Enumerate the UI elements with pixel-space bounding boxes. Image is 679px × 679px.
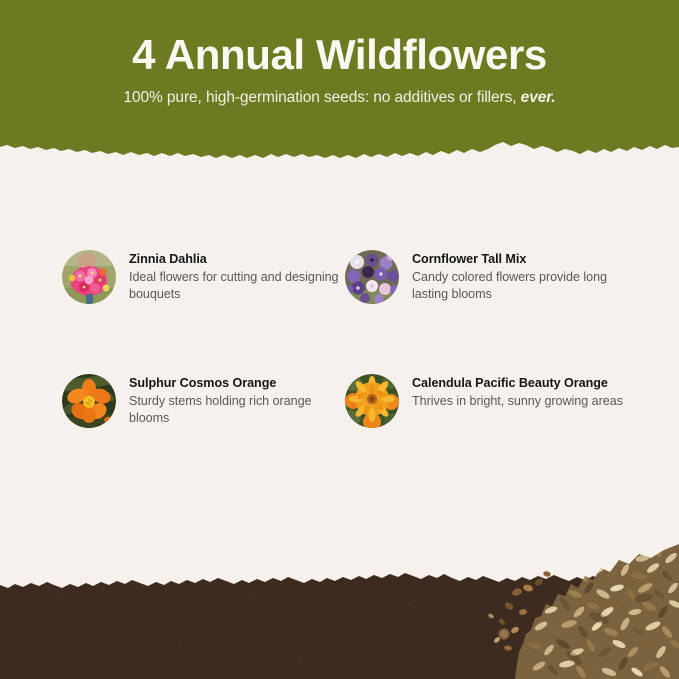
page-subtitle: 100% pure, high-germination seeds: no ad… bbox=[0, 77, 679, 107]
feature-text-group: Calendula Pacific Beauty Orange Thrives … bbox=[412, 362, 624, 410]
feature-text-group: Zinnia Dahlia Ideal flowers for cutting … bbox=[129, 238, 341, 304]
feature-description: Candy colored flowers provide long lasti… bbox=[412, 269, 624, 304]
feature-title: Sulphur Cosmos Orange bbox=[129, 375, 341, 392]
feature-text-group: Cornflower Tall Mix Candy colored flower… bbox=[412, 238, 624, 304]
header-banner: 4 Annual Wildflowers 100% pure, high-ger… bbox=[0, 0, 679, 160]
feature-title: Cornflower Tall Mix bbox=[412, 251, 624, 268]
feature-row: Sulphur Cosmos Orange Sturdy stems holdi… bbox=[0, 362, 679, 428]
flower-thumbnail-sulphur-cosmos-orange bbox=[62, 374, 116, 428]
subtitle-main-text: 100% pure, high-germination seeds: no ad… bbox=[123, 89, 516, 106]
feature-grid: Zinnia Dahlia Ideal flowers for cutting … bbox=[0, 238, 679, 428]
flower-thumbnail-calendula-pacific-beauty-orange bbox=[345, 374, 399, 428]
page-title: 4 Annual Wildflowers bbox=[0, 0, 679, 77]
feature-description: Ideal flowers for cutting and designing … bbox=[129, 269, 341, 304]
feature-item-cornflower-tall-mix[interactable]: Cornflower Tall Mix Candy colored flower… bbox=[345, 238, 628, 304]
feature-row: Zinnia Dahlia Ideal flowers for cutting … bbox=[0, 238, 679, 304]
feature-text-group: Sulphur Cosmos Orange Sturdy stems holdi… bbox=[129, 362, 341, 428]
feature-description: Thrives in bright, sunny growing areas bbox=[412, 393, 624, 410]
feature-item-calendula-pacific-beauty-orange[interactable]: Calendula Pacific Beauty Orange Thrives … bbox=[345, 362, 628, 428]
feature-item-zinnia-dahlia[interactable]: Zinnia Dahlia Ideal flowers for cutting … bbox=[62, 238, 345, 304]
feature-description: Sturdy stems holding rich orange blooms bbox=[129, 393, 341, 428]
header-text-group: 4 Annual Wildflowers 100% pure, high-ger… bbox=[0, 0, 679, 107]
flower-thumbnail-cornflower-tall-mix bbox=[345, 250, 399, 304]
seed-pile-mass bbox=[479, 544, 679, 679]
subtitle-emphasis-text: ever. bbox=[516, 89, 555, 106]
flower-thumbnail-zinnia-dahlia bbox=[62, 250, 116, 304]
feature-item-sulphur-cosmos-orange[interactable]: Sulphur Cosmos Orange Sturdy stems holdi… bbox=[62, 362, 345, 428]
feature-title: Zinnia Dahlia bbox=[129, 251, 341, 268]
product-infographic: 4 Annual Wildflowers 100% pure, high-ger… bbox=[0, 0, 679, 679]
seed-mix-pile-image bbox=[479, 544, 679, 679]
feature-title: Calendula Pacific Beauty Orange bbox=[412, 375, 624, 392]
